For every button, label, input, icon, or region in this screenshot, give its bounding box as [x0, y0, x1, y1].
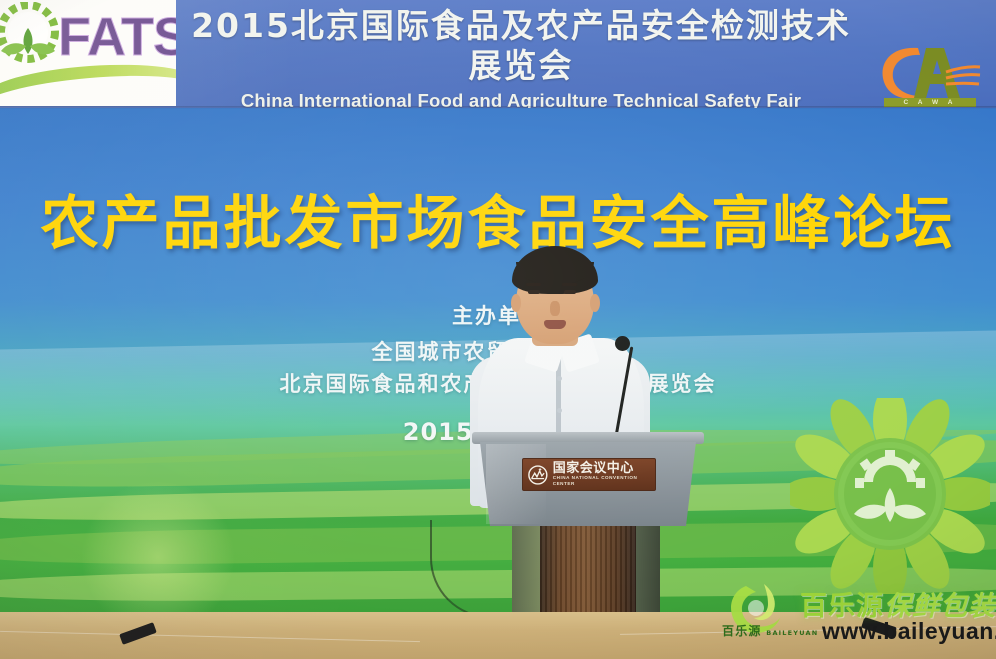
venue-name-cn: 国家会议中心 [553, 462, 650, 475]
lens-glow [78, 482, 238, 632]
watermark-logo-en: BAILEYUAN [766, 629, 818, 637]
mouth [544, 320, 566, 329]
ear-right [590, 294, 600, 312]
shirt-button [557, 408, 562, 413]
watermark-logo-cn: 百乐源 [722, 624, 762, 638]
eyebrow-left [526, 283, 541, 286]
banner-text-block: 2015北京国际食品及农产品安全检测技术展览会 China Internatio… [176, 6, 866, 108]
hair [512, 246, 598, 294]
cawa-logo [874, 42, 984, 106]
venue-name-en: CHINA NATIONAL CONVENTION CENTER [553, 475, 650, 487]
fats-logo: FATS [0, 0, 176, 106]
eyebrow-right [562, 283, 577, 286]
eye-left [528, 290, 540, 294]
watermark-logo-text: 百乐源 BAILEYUAN [722, 622, 822, 639]
podium-wood-column [540, 524, 636, 620]
top-banner-strip: 2015北京国际食品及农产品安全检测技术展览会 China Internatio… [0, 0, 996, 108]
fats-swoosh-mask [0, 68, 176, 106]
eye-right [564, 290, 576, 294]
banner-bottom-edge [0, 106, 996, 109]
leaf-gear-emblem-icon [0, 2, 66, 72]
fats-wordmark: FATS [58, 6, 176, 68]
ear-left [511, 294, 521, 312]
banner-title-en: China International Food and Agriculture… [176, 88, 866, 108]
watermark-url: www.baileyuan.cn [822, 618, 996, 645]
nose [550, 301, 560, 316]
venue-plaque: 国家会议中心 CHINA NATIONAL CONVENTION CENTER [522, 458, 656, 491]
conference-photo: 农产品批发市场食品安全高峰论坛 主办单位 全国城市农贸中心联合会 北京国际食品和… [0, 0, 996, 659]
banner-title-cn: 2015北京国际食品及农产品安全检测技术展览会 [176, 6, 866, 86]
fats-swoosh [0, 59, 176, 106]
ccc-logo-icon [528, 464, 548, 486]
microphone-head [615, 336, 630, 351]
shirt-button [557, 376, 562, 381]
watermark: 百乐源保鲜包装 百乐源 BAILEYUAN www.baileyuan.cn [716, 580, 996, 659]
podium-side-right [634, 524, 660, 620]
